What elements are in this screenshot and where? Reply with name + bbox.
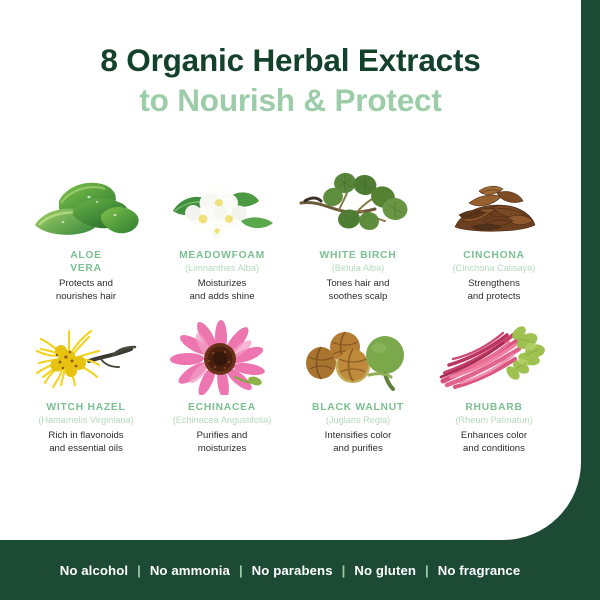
ingredient-latin-name: (Hamamelis Virginiana) [38,414,133,427]
ingredient-desc-line-1: Moisturizes [198,278,247,289]
ingredient-latin-name: (Juglans Regia) [326,414,390,427]
ingredient-description: Rich in flavonoids and essential oils [48,430,123,455]
claim-no-parabens: No parabens [252,563,333,578]
ingredient-desc-line-2: and essential oils [49,443,123,454]
echinacea-flower-icon [159,315,285,395]
ingredient-name: RHUBARB [465,401,522,414]
ingredient-description: Protects and nourishes hair [56,278,116,303]
black-walnut-nuts-icon [295,315,421,395]
claim-separator: | [230,563,252,578]
ingredient-card-rhubarb: RHUBARB (Rheum Palmatun) Enhances color … [426,315,562,455]
ingredient-desc-line-2: moisturizes [198,443,247,454]
meadowfoam-white-flower-icon [159,163,285,243]
ingredient-card-black-walnut: BLACK WALNUT (Juglans Regia) Intensifies… [290,315,426,455]
infographic-page: 8 Organic Herbal Extracts to Nourish & P… [0,0,600,600]
ingredient-desc-line-2: nourishes hair [56,291,116,302]
ingredient-row-1: ALOE VERA Protects and nourishes hair [18,163,563,303]
ingredient-desc-line-1: Intensifies color [325,430,392,441]
claim-no-ammonia: No ammonia [150,563,230,578]
ingredient-name: ECHINACEA [188,401,256,414]
ingredient-name: MEADOWFOAM [179,249,265,262]
footer-claims-bar: No alcohol | No ammonia | No parabens | … [0,540,600,600]
ingredient-name: BLACK WALNUT [312,401,404,414]
ingredient-desc-line-1: Protects and [59,278,113,289]
ingredient-desc-line-1: Tones hair and [327,278,390,289]
ingredient-row-2: WITCH HAZEL (Hamamelis Virginiana) Rich … [18,315,563,455]
claim-separator: | [416,563,438,578]
title-line-2: to Nourish & Protect [0,80,581,120]
ingredient-card-witch-hazel: WITCH HAZEL (Hamamelis Virginiana) Rich … [18,315,154,455]
ingredient-desc-line-1: Enhances color [461,430,527,441]
cinchona-bark-icon [431,163,557,243]
claim-no-fragrance: No fragrance [438,563,521,578]
ingredient-card-cinchona: CINCHONA (Cinchona Calisaya) Strengthens… [426,163,562,303]
ingredient-description: Intensifies color and purifies [325,430,392,455]
ingredient-description: Tones hair and soothes scalp [327,278,390,303]
aloe-vera-leaves-icon [23,163,149,243]
ingredient-latin-name: (Cinchona Calisaya) [453,262,536,275]
ingredient-description: Strengthens and protects [468,278,521,303]
claim-separator: | [128,563,150,578]
claim-no-alcohol: No alcohol [60,563,128,578]
claim-no-gluten: No gluten [354,563,416,578]
ingredient-card-white-birch: WHITE BIRCH (Betula Alba) Tones hair and… [290,163,426,303]
ingredient-desc-line-2: and protects [468,291,521,302]
ingredient-desc-line-1: Strengthens [468,278,520,289]
ingredient-desc-line-1: Purifies and [197,430,248,441]
ingredient-grid: ALOE VERA Protects and nourishes hair [18,163,563,455]
white-birch-branch-icon [295,163,421,243]
ingredient-desc-line-2: and purifies [333,443,383,454]
ingredient-name: WHITE BIRCH [320,249,397,262]
ingredient-description: Enhances color and conditions [461,430,527,455]
claim-separator: | [333,563,355,578]
ingredient-name: ALOE VERA [70,249,102,275]
ingredient-desc-line-1: Rich in flavonoids [48,430,123,441]
ingredient-name: CINCHONA [463,249,525,262]
ingredient-latin-name: (Betula Alba) [332,262,385,275]
ingredient-name-line-1: ALOE [70,250,102,261]
ingredient-description: Moisturizes and adds shine [189,278,254,303]
ingredient-name: WITCH HAZEL [46,401,125,414]
ingredient-latin-name: (Limnanthes Alba) [185,262,259,275]
ingredient-card-aloe-vera: ALOE VERA Protects and nourishes hair [18,163,154,303]
witch-hazel-flower-icon [23,315,149,395]
ingredient-desc-line-2: and conditions [463,443,525,454]
footer-claims-list: No alcohol | No ammonia | No parabens | … [60,563,521,578]
ingredient-desc-line-2: and adds shine [189,291,254,302]
ingredient-card-echinacea: ECHINACEA (Echinacea Angustifolia) Purif… [154,315,290,455]
ingredient-card-meadowfoam: MEADOWFOAM (Limnanthes Alba) Moisturizes… [154,163,290,303]
ingredient-description: Purifies and moisturizes [197,430,248,455]
rhubarb-stalks-icon [431,315,557,395]
ingredient-latin-name: (Rheum Palmatun) [455,414,532,427]
ingredient-desc-line-2: soothes scalp [329,291,388,302]
ingredient-name-line-2: VERA [70,263,102,274]
title-line-1: 8 Organic Herbal Extracts [0,40,581,80]
page-title: 8 Organic Herbal Extracts to Nourish & P… [0,40,581,120]
ingredient-latin-name: (Echinacea Angustifolia) [173,414,272,427]
